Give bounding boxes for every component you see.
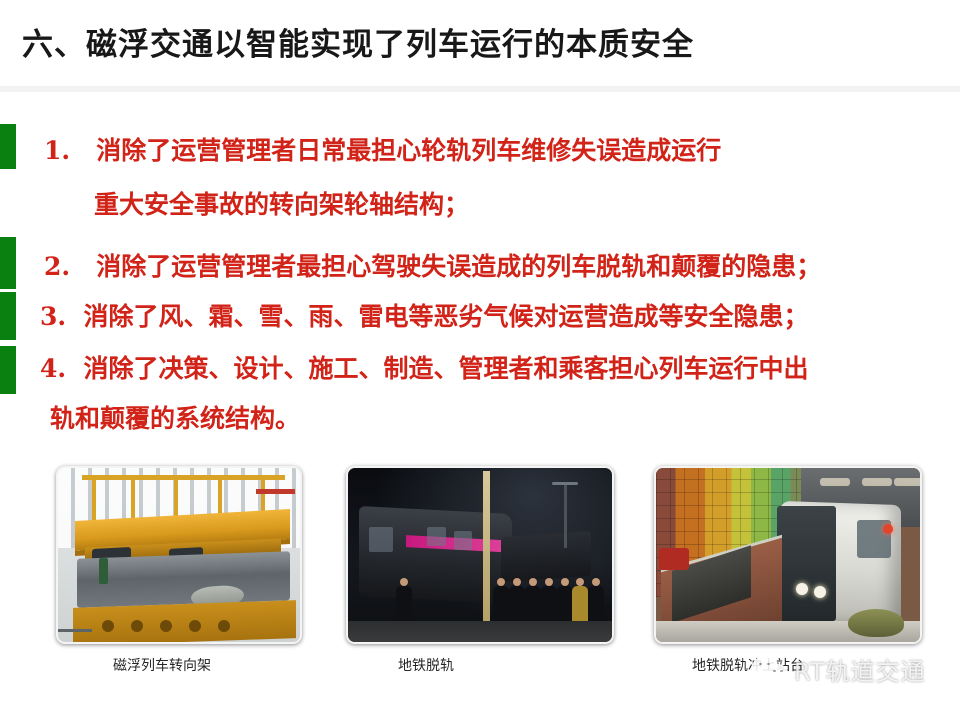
photo-derailed-onto-platform — [654, 466, 922, 644]
list-item-1: 1. 消除了运营管理者日常最担心轮轨列车维修失误造成运行 重大安全事故的转向架轮… — [44, 124, 721, 232]
list-item-4: 4. 消除了决策、设计、施工、制造、管理者和乘客担心列车运行中出 轨和颠覆的系统… — [40, 344, 809, 444]
bullet-marker-2 — [0, 237, 16, 289]
list-item-2: 2. 消除了运营管理者最担心驾驶失误造成的列车脱轨和颠覆的隐患； — [44, 244, 821, 290]
list-item-4-line-1: 消除了决策、设计、施工、制造、管理者和乘客担心列车运行中出 — [84, 354, 809, 383]
photo-row — [0, 466, 960, 666]
list-item-1-line-2: 重大安全事故的转向架轮轴结构； — [94, 178, 721, 232]
maglev-bogie-image — [58, 468, 300, 642]
list-item-1-number: 1. — [44, 136, 70, 165]
slide-title-bar: 六、磁浮交通以智能实现了列车运行的本质安全 — [0, 0, 960, 82]
watermark-text: RT轨道交通 — [794, 652, 926, 687]
page-title: 六、磁浮交通以智能实现了列车运行的本质安全 — [22, 19, 694, 64]
photo-caption-1: 磁浮列车转向架 — [113, 655, 211, 675]
list-item-2-line-1: 消除了运营管理者最担心驾驶失误造成的列车脱轨和颠覆的隐患； — [96, 252, 821, 281]
bullet-marker-1 — [0, 124, 16, 169]
list-item-1-line-1: 消除了运营管理者日常最担心轮轨列车维修失误造成运行 — [96, 136, 721, 165]
bullet-marker-4 — [0, 346, 16, 394]
presentation-slide: 六、磁浮交通以智能实现了列车运行的本质安全 1. 消除了运营管理者日常最担心轮轨… — [0, 0, 960, 720]
photo-subway-derailment — [346, 466, 614, 644]
subway-derailment-image — [348, 468, 612, 642]
list-item-4-line-2: 轨和颠覆的系统结构。 — [50, 394, 809, 444]
photo-maglev-bogie — [56, 466, 302, 644]
bullet-marker-3 — [0, 292, 16, 340]
list-item-3-number: 3. — [40, 302, 66, 331]
list-item-2-number: 2. — [44, 252, 70, 281]
wechat-icon — [752, 654, 790, 686]
list-item-4-number: 4. — [40, 354, 66, 383]
list-item-3-line-1: 消除了风、霜、雪、雨、雷电等恶劣气候对运营造成等安全隐患； — [84, 302, 809, 331]
title-divider — [0, 86, 960, 92]
derailed-onto-platform-image — [656, 468, 920, 642]
list-item-3: 3. 消除了风、霜、雪、雨、雷电等恶劣气候对运营造成等安全隐患； — [40, 294, 809, 340]
watermark: RT轨道交通 — [752, 652, 926, 687]
photo-caption-2: 地铁脱轨 — [398, 655, 454, 675]
